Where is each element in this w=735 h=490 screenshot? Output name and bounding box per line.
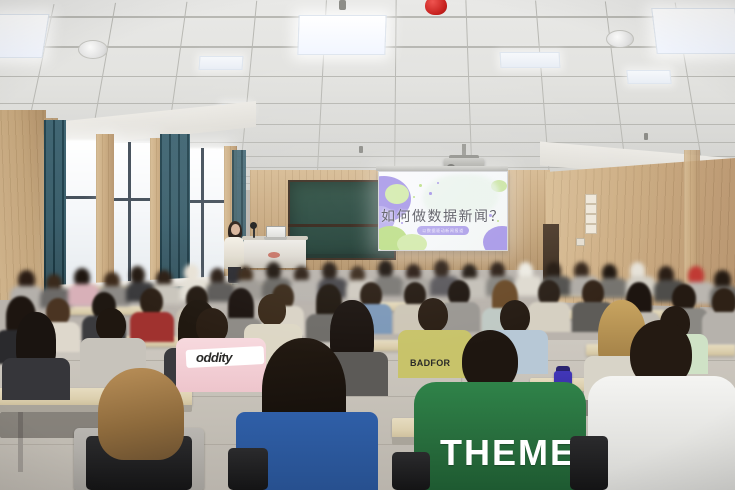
slide-blob-green: [385, 184, 409, 204]
classroom-photo: 如何做数据新闻？ 以数据驱动新闻报道: [0, 0, 735, 490]
audience-shoulders: [2, 358, 70, 400]
foreground-long-hair: [98, 368, 184, 460]
ceiling-light-panel: [0, 14, 49, 58]
window-mullion: [110, 198, 154, 201]
curtain[interactable]: [44, 120, 66, 295]
chair-cushion: [228, 448, 268, 490]
sprinkler-icon: [339, 0, 346, 10]
slide-blob-green: [397, 234, 427, 251]
podium-emblem: [268, 252, 280, 258]
ceiling-speaker-icon: [78, 40, 108, 59]
projection-screen: 如何做数据新闻？ 以数据驱动新闻报道: [378, 171, 508, 251]
ceiling-speaker-icon: [606, 30, 634, 48]
sprinkler-icon: [644, 133, 648, 140]
garment-text-theme: THEME: [440, 432, 576, 474]
ceiling-light-panel: [297, 15, 386, 55]
audience-head: [184, 264, 199, 281]
audience-shoulders: [528, 302, 570, 332]
audience-head: [96, 308, 126, 342]
ceiling-light-panel: [199, 56, 244, 70]
blackboard-divider: [288, 224, 392, 227]
chair-cushion: [570, 436, 608, 490]
slide-dot: [413, 196, 415, 198]
audience-head: [500, 300, 530, 334]
foreground-shoulders: [588, 376, 735, 490]
wall-sign: [585, 214, 597, 224]
presenter-head: [231, 224, 240, 235]
slide-blob-purple: [483, 226, 508, 251]
red-alarm-icon: [425, 0, 447, 15]
audience-head: [418, 298, 448, 332]
wall-sign: [585, 224, 597, 234]
window-pillar: [96, 134, 114, 294]
garment-text-oddity: oddity: [196, 350, 232, 365]
chair-cushion: [392, 452, 430, 490]
laptop-base: [264, 237, 287, 240]
audience-head: [258, 294, 286, 326]
ceiling-light-panel: [651, 8, 735, 54]
microphone-head-icon: [250, 222, 257, 229]
wall-sign: [585, 204, 597, 214]
slide-title: 如何做数据新闻？: [379, 206, 507, 226]
ceiling-light-panel: [626, 70, 671, 84]
garment-text-badfor: BADFOR: [410, 358, 450, 368]
slide-dot: [437, 182, 439, 184]
window-mullion: [201, 148, 204, 288]
audience-shoulders: [398, 330, 472, 378]
slide-subtitle-pill: 以数据驱动新闻报道: [417, 226, 469, 235]
audience-head: [140, 288, 163, 315]
light-switch[interactable]: [576, 238, 585, 246]
wall-sign: [585, 194, 597, 204]
ceiling-light-panel: [500, 52, 561, 68]
slide-dot: [419, 184, 422, 187]
presenter-coat: [224, 237, 244, 269]
sprinkler-icon: [359, 146, 363, 153]
slide-dot: [429, 192, 432, 195]
slide: 如何做数据新闻？ 以数据驱动新闻报道: [379, 172, 507, 250]
